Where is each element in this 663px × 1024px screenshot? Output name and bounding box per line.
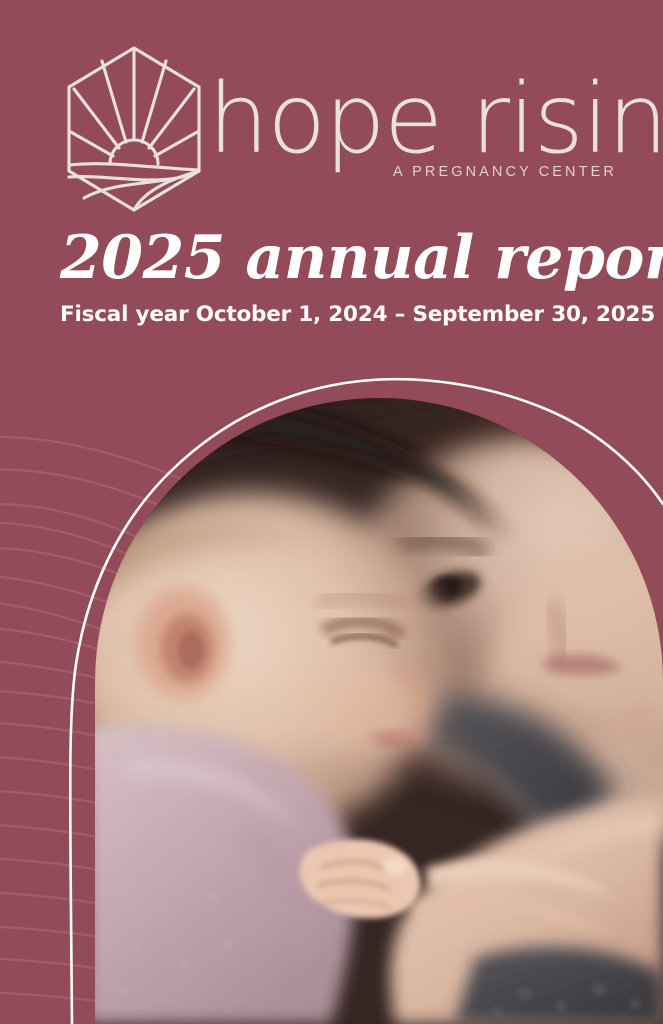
photo-arch-wrap [0, 0, 663, 1024]
report-cover-page: hope rising A PREGNANCY CENTER 2025 annu… [0, 0, 663, 1024]
cover-photo [95, 398, 663, 1024]
